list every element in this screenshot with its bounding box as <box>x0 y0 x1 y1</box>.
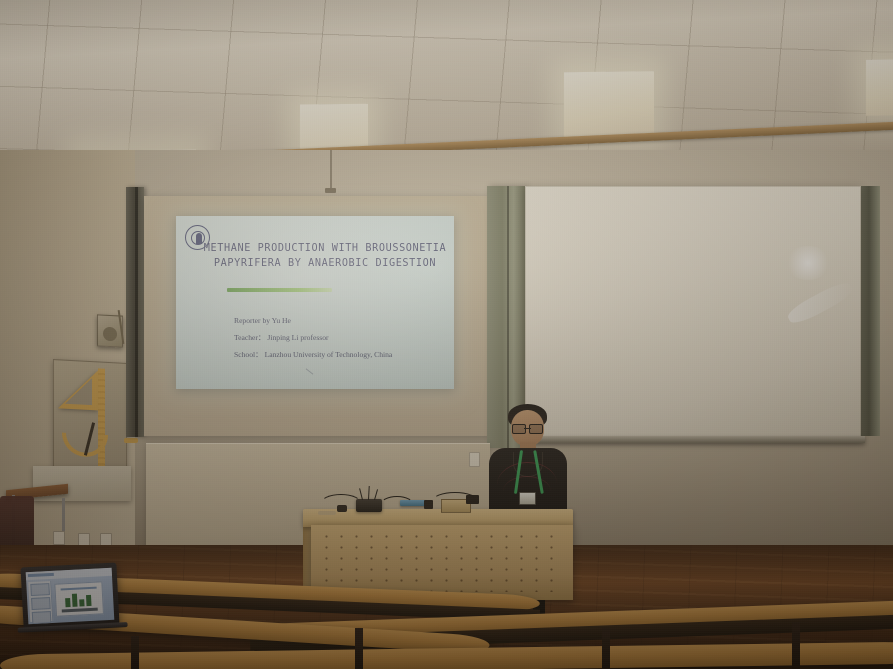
side-chair <box>0 496 34 550</box>
bench-leg <box>131 636 139 669</box>
projection-screen: METHANE PRODUCTION WITH BROUSSONETIA PAP… <box>176 216 454 389</box>
slide-school-line: School： Lanzhou University of Technology… <box>234 346 444 363</box>
projector-cable <box>330 150 332 190</box>
chart-bar <box>86 595 92 606</box>
whiteboard-glare <box>785 246 831 280</box>
geometry-tools-board <box>53 359 127 477</box>
ruler-icon <box>98 368 105 468</box>
slide-title-line-1: METHANE PRODUCTION WITH BROUSSONETIA <box>202 242 448 257</box>
slide-title: METHANE PRODUCTION WITH BROUSSONETIA PAP… <box>202 242 448 272</box>
slide-thumbnail-pane <box>28 581 53 622</box>
wall-outlet[interactable] <box>53 531 65 545</box>
slide-title-bar <box>61 587 97 591</box>
cable <box>320 494 362 514</box>
conference-badge <box>519 492 536 505</box>
whiteboard-edge-column <box>858 186 880 436</box>
set-square-inner <box>65 377 92 405</box>
sliding-board-track <box>126 187 144 437</box>
slide-reporter-line: Reporter by Yu He <box>234 312 444 329</box>
chart-bar <box>65 598 70 607</box>
wall-switch[interactable] <box>469 452 480 467</box>
lecture-hall-photo: METHANE PRODUCTION WITH BROUSSONETIA PAP… <box>0 0 893 669</box>
cable <box>380 496 414 514</box>
door-handle[interactable] <box>124 438 138 443</box>
whiteboard-marker-tray <box>525 436 865 443</box>
cable <box>432 492 478 510</box>
slide-body: Reporter by Yu He Teacher： Jinping Li pr… <box>234 312 444 363</box>
slide-editor-canvas <box>54 581 104 616</box>
laptop[interactable] <box>20 563 119 630</box>
bench-leg <box>602 628 610 669</box>
whiteboard-glare <box>785 279 855 328</box>
chart-bar <box>72 594 78 607</box>
screen-mount <box>325 188 336 193</box>
desk-perforation <box>319 531 565 592</box>
eyeglasses-icon <box>512 424 543 432</box>
slide-accent-rule <box>227 288 332 292</box>
bench-leg <box>792 622 800 669</box>
slide-footer-bar <box>62 608 98 613</box>
slide-teacher-line: Teacher： Jinping Li professor <box>234 329 444 346</box>
slide-title-line-2: PAPYRIFERA BY ANAEROBIC DIGESTION <box>202 257 448 272</box>
chart-bar <box>79 599 84 606</box>
bench-leg <box>355 628 363 669</box>
laptop-screen[interactable] <box>26 568 115 624</box>
whiteboard <box>525 186 861 440</box>
slide-artifact <box>306 368 314 374</box>
